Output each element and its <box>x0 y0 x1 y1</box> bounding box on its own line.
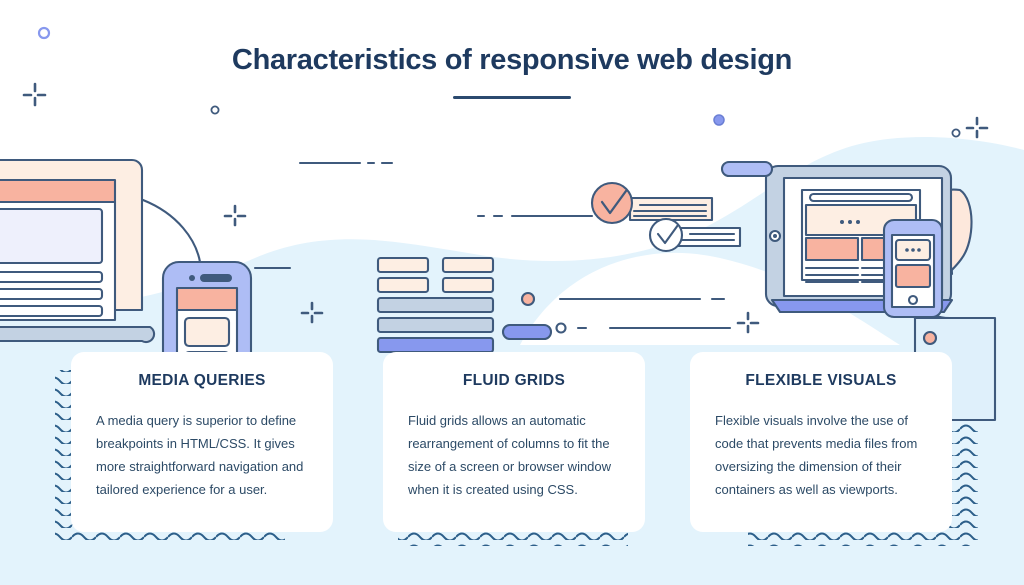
page-header: Characteristics of responsive web design <box>0 44 1024 99</box>
card-body: A media query is superior to define brea… <box>93 409 311 501</box>
laptop-icon <box>0 160 154 342</box>
card-body: Fluid grids allows an automatic rearrang… <box>405 409 623 501</box>
feature-card-flexible-visuals[interactable]: FLEXIBLE VISUALS Flexible visuals involv… <box>690 352 952 532</box>
connector-lines <box>255 163 730 339</box>
check-circle-outline-icon <box>650 219 740 251</box>
sparkle-plus <box>967 118 987 137</box>
title-divider <box>453 96 571 99</box>
card-title: FLUID GRIDS <box>405 372 623 390</box>
card-title: FLEXIBLE VISUALS <box>712 372 930 390</box>
check-circle-filled-icon <box>592 183 712 223</box>
stacked-content-bars <box>378 258 493 352</box>
sparkle-plus <box>738 313 758 332</box>
infographic-canvas: Characteristics of responsive web design… <box>0 0 1024 585</box>
page-title: Characteristics of responsive web design <box>0 44 1024 77</box>
feature-card-fluid-grids[interactable]: FLUID GRIDS Fluid grids allows an automa… <box>383 352 645 532</box>
hand-icon <box>897 190 972 318</box>
feature-card-media-queries[interactable]: MEDIA QUERIES A media query is superior … <box>71 352 333 532</box>
sparkle-plus <box>225 206 245 225</box>
card-title: MEDIA QUERIES <box>93 372 311 390</box>
tablet-icon <box>766 166 952 312</box>
pill-button-shape <box>722 162 772 176</box>
sparkle-plus <box>302 303 322 322</box>
card-body: Flexible visuals involve the use of code… <box>712 409 930 501</box>
feature-cards: MEDIA QUERIES A media query is superior … <box>0 352 1024 537</box>
phone-icon <box>884 220 942 317</box>
